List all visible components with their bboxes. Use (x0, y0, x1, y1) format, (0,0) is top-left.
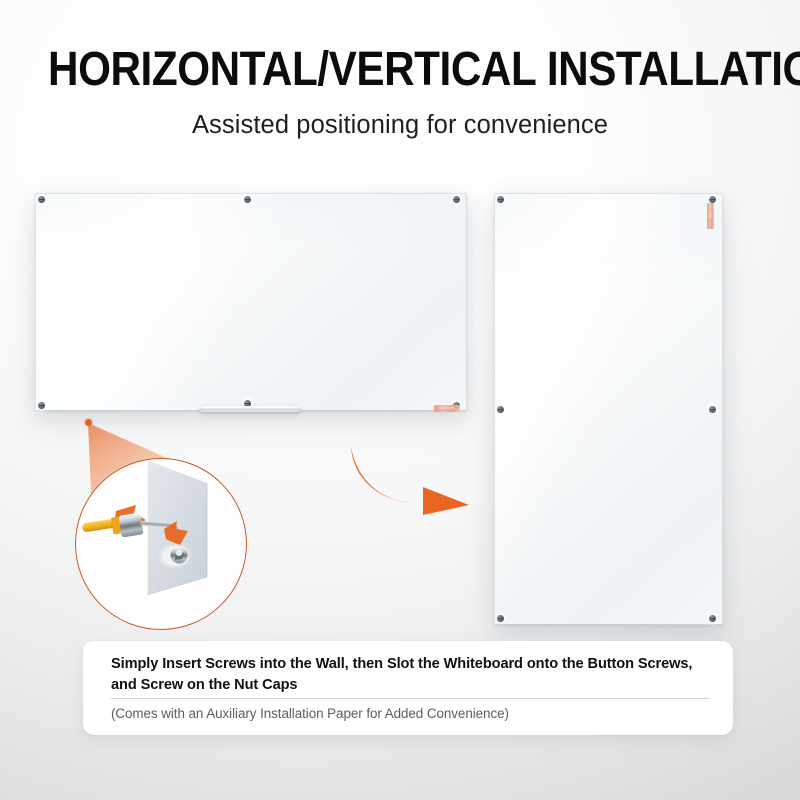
heading-block: HORIZONTAL/VERTICAL INSTALLATION Assiste… (0, 46, 800, 140)
mounting-screw (38, 402, 45, 409)
whiteboard-horizontal (35, 193, 467, 411)
mounting-screw (453, 196, 460, 203)
curved-arrow-icon (347, 443, 473, 515)
mounting-screw (244, 196, 251, 203)
instruction-card: Simply Insert Screws into the Wall, then… (83, 641, 733, 735)
product-feature-poster: HORIZONTAL/VERTICAL INSTALLATION Assiste… (0, 0, 800, 800)
marker-tray (200, 406, 300, 412)
mounting-screw (709, 615, 716, 622)
brand-logo: VEVOR (707, 203, 714, 229)
whiteboard-vertical (494, 193, 723, 625)
mounting-screw (497, 196, 504, 203)
mounting-screw (38, 196, 45, 203)
brand-logo-label: VEVOR (708, 203, 713, 204)
zoom-origin-dot (85, 419, 92, 426)
mounting-screw (497, 406, 504, 413)
detail-circle-outline (75, 458, 247, 630)
card-divider (111, 698, 709, 699)
nut-cap-icon (158, 543, 192, 569)
page-title: HORIZONTAL/VERTICAL INSTALLATION (48, 46, 752, 94)
page-subtitle: Assisted positioning for convenience (0, 94, 800, 140)
instruction-note: (Comes with an Auxiliary Installation Pa… (111, 706, 709, 721)
instruction-headline: Simply Insert Screws into the Wall, then… (111, 654, 709, 695)
whiteboard-horizontal-surface (35, 193, 467, 411)
mounting-screw (497, 615, 504, 622)
brand-logo: VEVOR (434, 405, 460, 412)
brand-logo-label: VEVOR (434, 405, 460, 410)
installation-detail-callout (75, 458, 247, 630)
mounting-screw (709, 196, 716, 203)
detail-illustration (76, 459, 246, 629)
mounting-screw (709, 406, 716, 413)
whiteboard-vertical-surface (494, 193, 723, 625)
